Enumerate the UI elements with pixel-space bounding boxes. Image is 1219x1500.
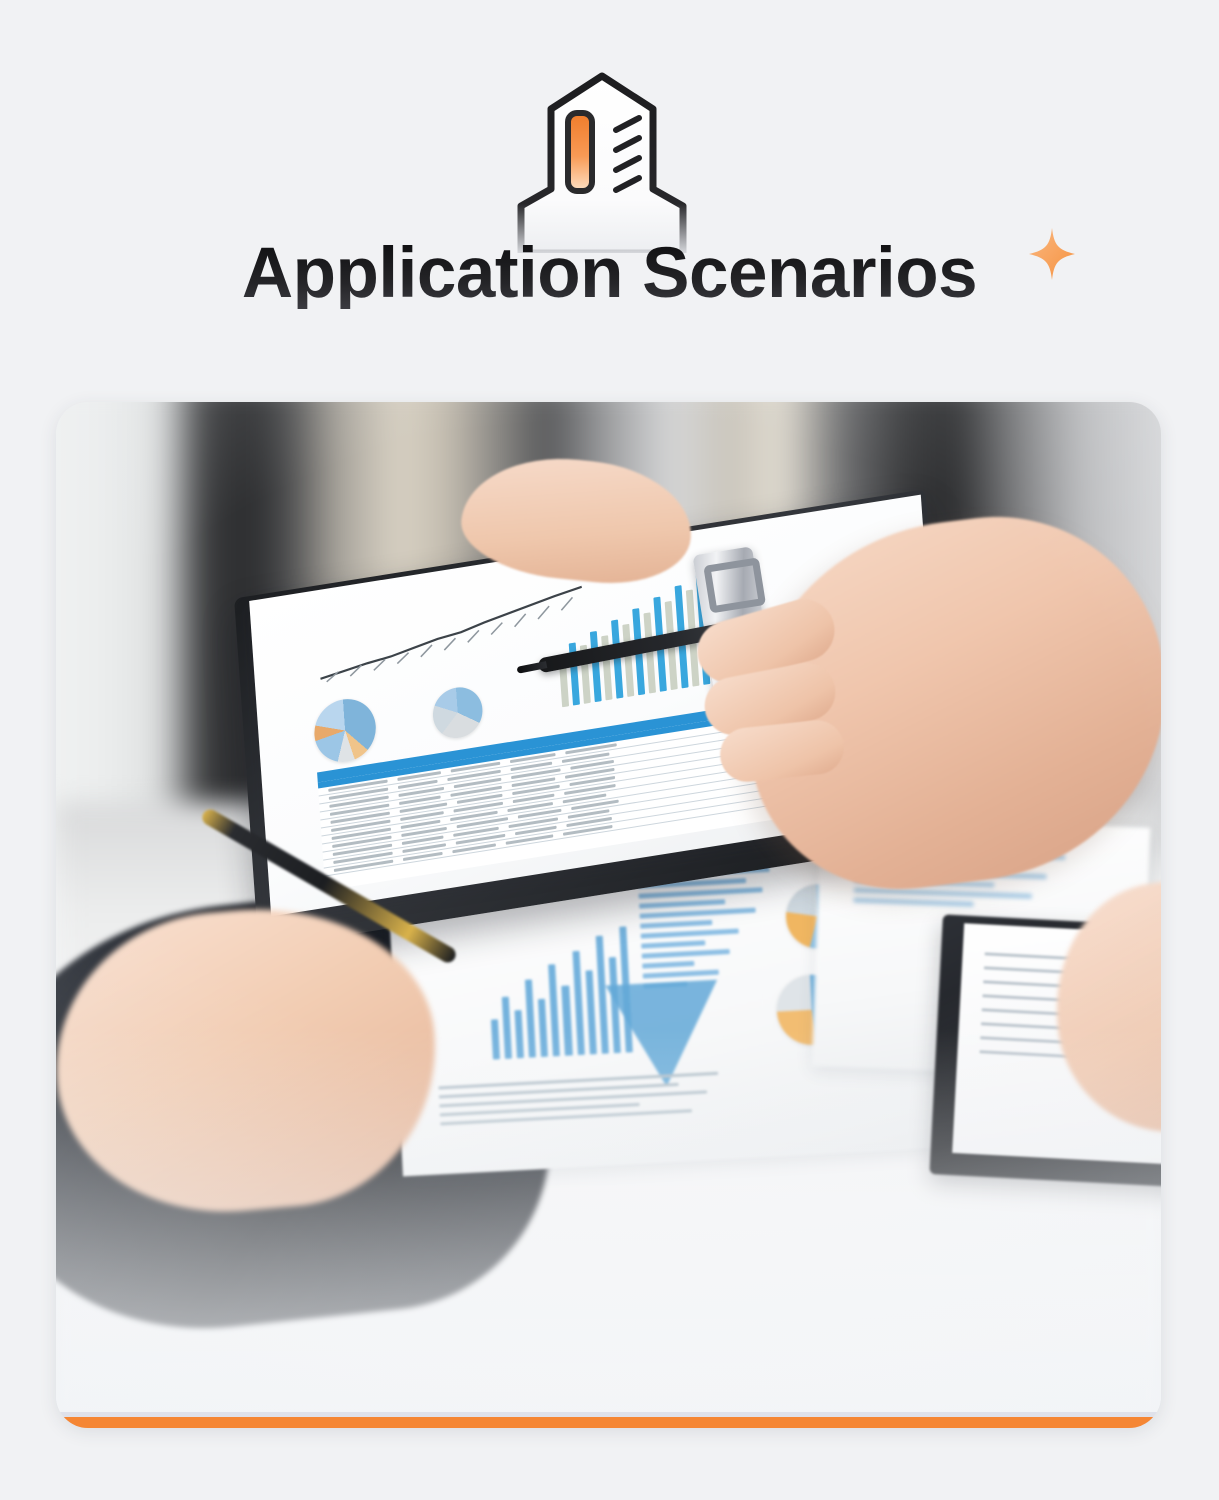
business-meeting-clipboard-photo bbox=[56, 402, 1161, 1412]
building-skyscraper-icon bbox=[497, 68, 707, 253]
application-scenario-card: Document Contract bbox=[56, 402, 1161, 1428]
report-pie-chart-1 bbox=[312, 695, 378, 767]
report-pie-chart-2 bbox=[431, 684, 484, 742]
page-title: Application Scenarios bbox=[242, 238, 977, 309]
sheet-text-rows bbox=[438, 1071, 740, 1132]
sparkle-star-icon bbox=[1029, 228, 1075, 280]
header: Application Scenarios bbox=[0, 0, 1219, 380]
page-root: Application Scenarios bbox=[0, 0, 1219, 1500]
